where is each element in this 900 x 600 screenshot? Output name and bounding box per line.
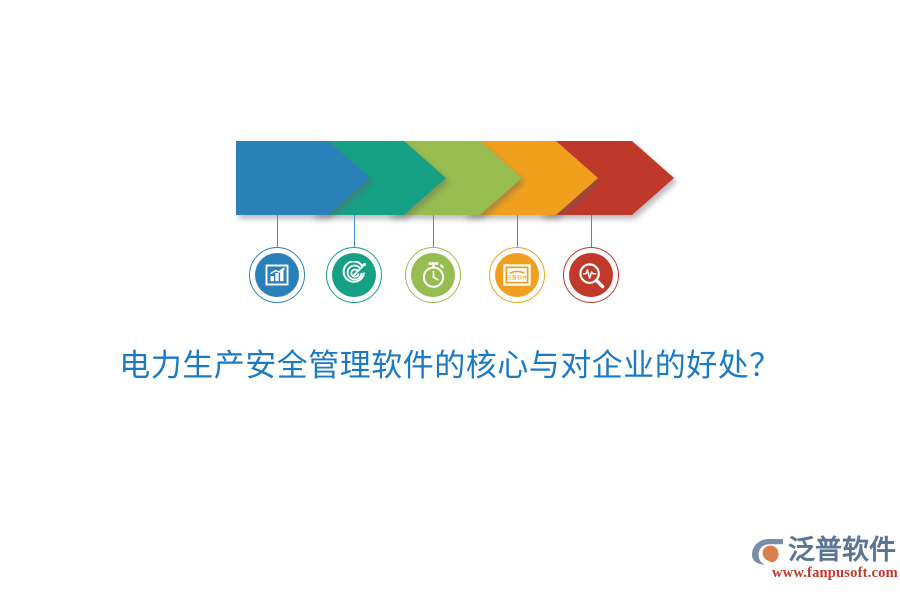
node-disc xyxy=(332,253,376,297)
process-arrow-banner xyxy=(228,134,680,226)
node-disc xyxy=(569,253,613,297)
whiteboard-icon: 泛普软件 xyxy=(503,264,531,286)
brand-logo[interactable]: 泛普软件 www.fanpusoft.com xyxy=(750,534,886,592)
process-node-bar-chart[interactable] xyxy=(249,247,305,303)
connector-line-2 xyxy=(354,215,355,249)
connector-line-3 xyxy=(433,215,434,249)
page-title: 电力生产安全管理软件的核心与对企业的好处？ xyxy=(0,344,900,388)
svg-text:泛普软件: 泛普软件 xyxy=(507,273,528,281)
magnifier-pulse-icon xyxy=(578,262,605,289)
process-node-target[interactable] xyxy=(326,247,382,303)
brand-name: 泛普软件 xyxy=(788,535,896,565)
process-node-magnifier-pulse[interactable] xyxy=(563,247,619,303)
bar-chart-icon xyxy=(264,262,290,288)
process-node-stopwatch[interactable] xyxy=(405,247,461,303)
slide-canvas: 泛普软件 电力生产安全管理软件的核心与对企业的好处？ xyxy=(0,0,900,600)
node-disc: 泛普软件 xyxy=(495,253,539,297)
stopwatch-icon xyxy=(420,261,447,289)
node-disc xyxy=(255,253,299,297)
brand-url: www.fanpusoft.com xyxy=(772,565,898,582)
connector-line-4 xyxy=(517,215,518,249)
process-arrow-svg xyxy=(228,134,680,226)
node-disc xyxy=(411,253,455,297)
process-node-whiteboard[interactable]: 泛普软件 xyxy=(489,247,545,303)
connector-line-1 xyxy=(277,215,278,249)
target-dart-icon xyxy=(340,261,368,289)
connector-line-5 xyxy=(591,215,592,249)
